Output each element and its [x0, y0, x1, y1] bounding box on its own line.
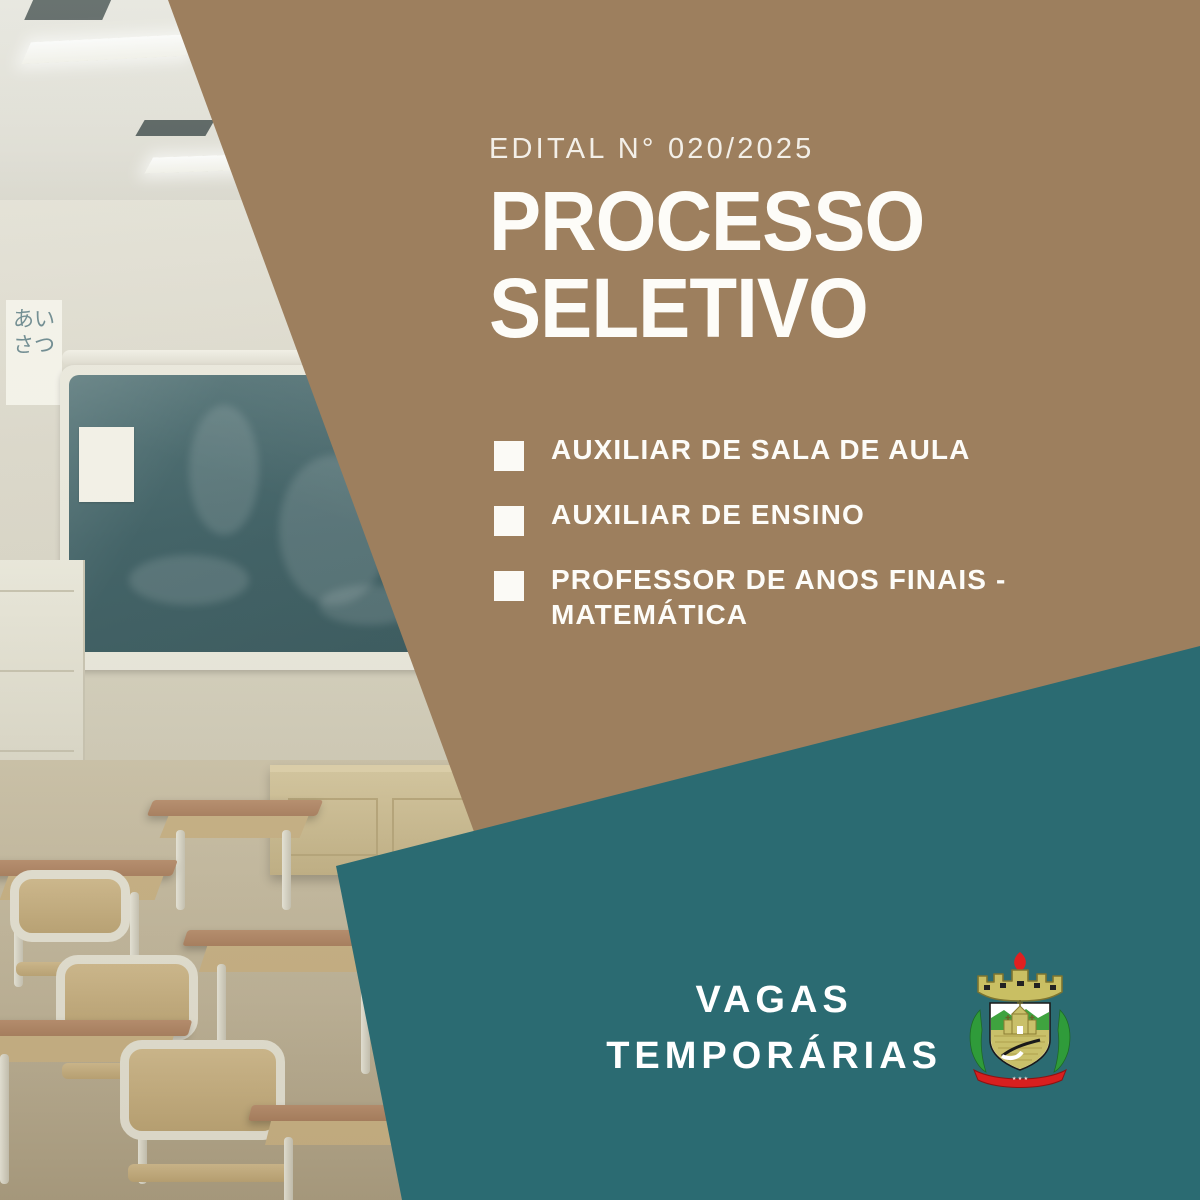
bullet-square-icon	[494, 506, 524, 536]
page-title: PROCESSO SELETIVO	[489, 178, 924, 352]
bullet-square-icon	[494, 571, 524, 601]
list-item: AUXILIAR DE SALA DE AULA	[494, 432, 1114, 467]
positions-list: AUXILIAR DE SALA DE AULA AUXILIAR DE ENS…	[494, 432, 1114, 662]
poster-content: EDITAL N° 020/2025 PROCESSO SELETIVO AUX…	[0, 0, 1200, 1200]
position-label: PROFESSOR DE ANOS FINAIS - MATEMÁTICA	[551, 562, 1114, 632]
poster-canvas: あい さつ	[0, 0, 1200, 1200]
bullet-square-icon	[494, 441, 524, 471]
footer-label: VAGAS TEMPORÁRIAS	[606, 972, 942, 1084]
coat-of-arms-icon: ★ ★ ★	[960, 948, 1080, 1088]
banner-text: ★ ★ ★	[1012, 1076, 1029, 1082]
position-label: AUXILIAR DE ENSINO	[551, 497, 1114, 532]
position-label: AUXILIAR DE SALA DE AULA	[551, 432, 1114, 467]
edital-number: EDITAL N° 020/2025	[489, 133, 815, 166]
list-item: AUXILIAR DE ENSINO	[494, 497, 1114, 532]
list-item: PROFESSOR DE ANOS FINAIS - MATEMÁTICA	[494, 562, 1114, 632]
